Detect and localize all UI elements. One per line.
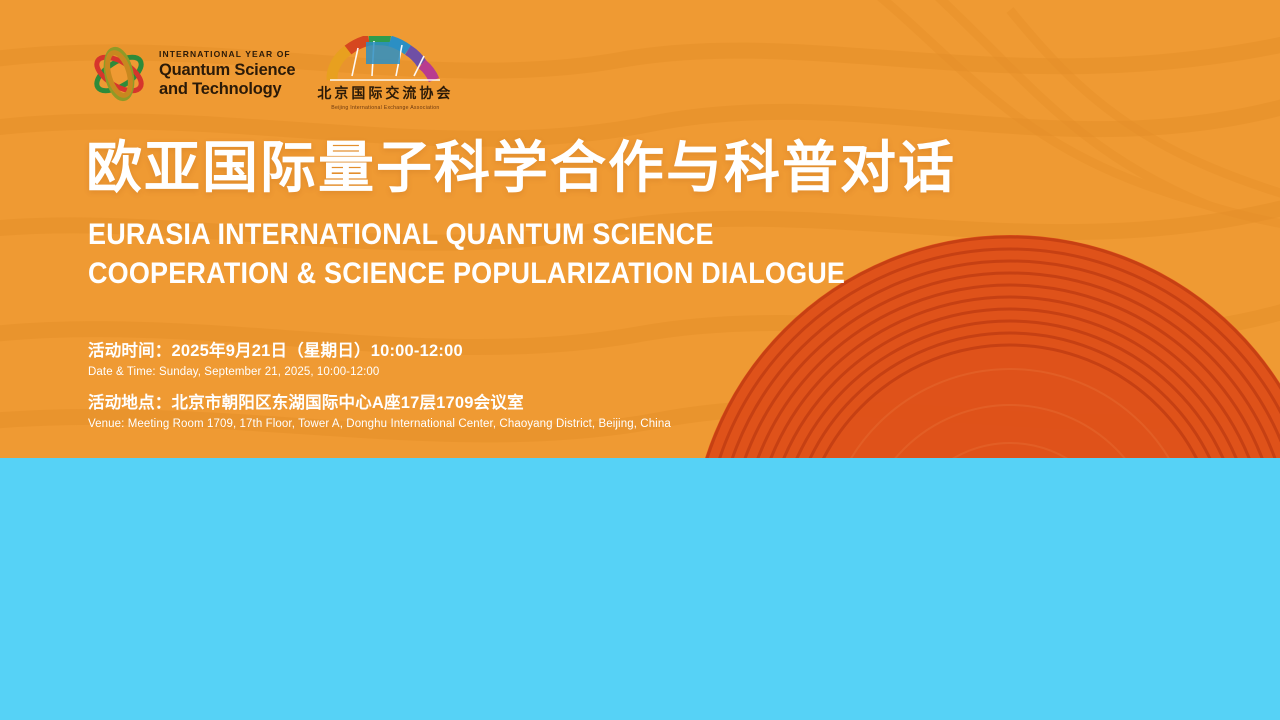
event-datetime-label-cn: 活动时间：: [88, 342, 172, 360]
event-datetime-value-cn: 2025年9月21日（星期日）10:00-12:00: [172, 342, 463, 360]
event-poster: INTERNATIONAL YEAR OF Quantum Science an…: [0, 0, 1280, 720]
iyq-line2: and Technology: [159, 81, 295, 98]
event-datetime-english: Date & Time: Sunday, September 21, 2025,…: [88, 365, 671, 379]
event-datetime-row: 活动时间：2025年9月21日（星期日）10:00-12:00 Date & T…: [88, 341, 671, 379]
poster-title-english-line1: EURASIA INTERNATIONAL QUANTUM SCIENCE: [88, 215, 845, 254]
event-venue-label-cn: 活动地点：: [88, 394, 172, 412]
event-venue-english: Venue: Meeting Room 1709, 17th Floor, To…: [88, 417, 671, 431]
poster-title-english-line2: COOPERATION & SCIENCE POPULARIZATION DIA…: [88, 254, 845, 293]
poster-title-english: EURASIA INTERNATIONAL QUANTUM SCIENCE CO…: [88, 215, 845, 293]
event-datetime-chinese: 活动时间：2025年9月21日（星期日）10:00-12:00: [88, 341, 671, 362]
quantum-knot-icon: [88, 43, 150, 105]
event-venue-value-cn: 北京市朝阳区东湖国际中心A座17层1709会议室: [172, 394, 524, 412]
orange-background-band: INTERNATIONAL YEAR OF Quantum Science an…: [0, 0, 1280, 458]
event-venue-chinese: 活动地点：北京市朝阳区东湖国际中心A座17层1709会议室: [88, 393, 671, 414]
event-details: 活动时间：2025年9月21日（星期日）10:00-12:00 Date & T…: [88, 341, 671, 445]
iyq-logo-text: INTERNATIONAL YEAR OF Quantum Science an…: [159, 50, 295, 98]
blue-background-band: 科普连接世界 · 量子引领未来 Science Popularization C…: [0, 458, 1280, 720]
iyq-kicker: INTERNATIONAL YEAR OF: [159, 50, 295, 59]
international-year-of-quantum-logo: INTERNATIONAL YEAR OF Quantum Science an…: [88, 43, 295, 105]
iyq-line1: Quantum Science: [159, 62, 295, 79]
bjiea-english-name: Beijing International Exchange Associati…: [331, 105, 439, 111]
poster-title-chinese: 欧亚国际量子科学合作与科普对话: [86, 140, 956, 196]
beijing-international-exchange-association-logo: 北京国际交流协会 Beijing International Exchange …: [317, 36, 453, 111]
logo-row: INTERNATIONAL YEAR OF Quantum Science an…: [88, 36, 453, 111]
rainbow-arch-icon: [322, 36, 448, 82]
event-venue-row: 活动地点：北京市朝阳区东湖国际中心A座17层1709会议室 Venue: Mee…: [88, 393, 671, 431]
bjiea-chinese-name: 北京国际交流协会: [317, 83, 453, 103]
